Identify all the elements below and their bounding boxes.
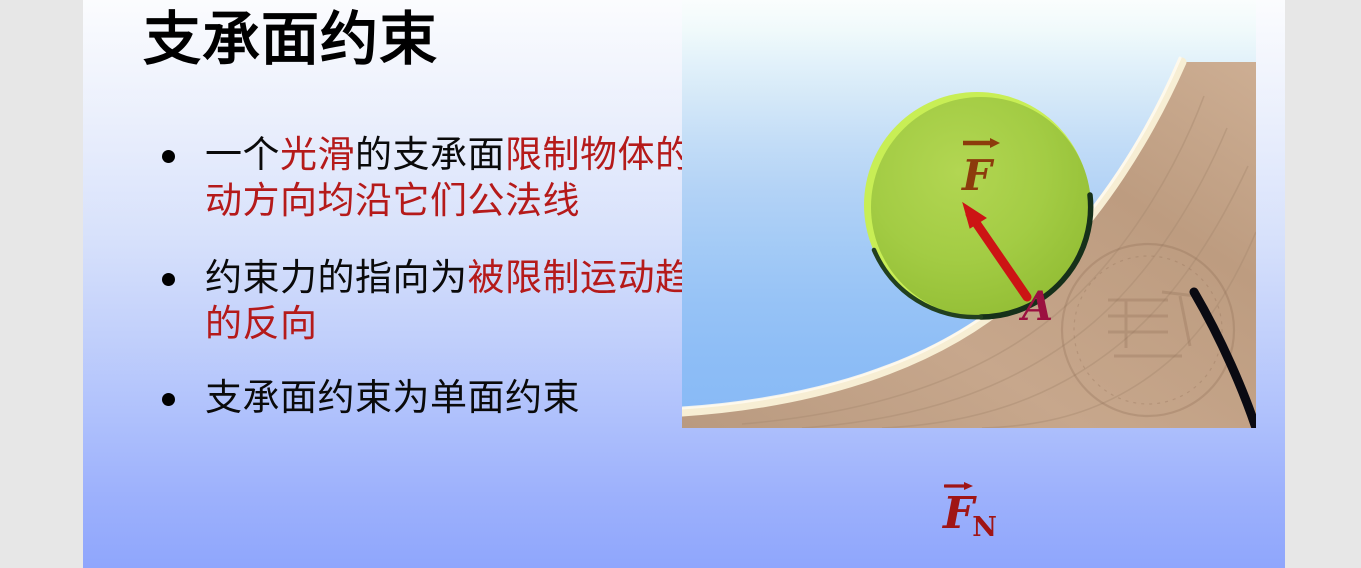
illustration-image: F A: [682, 0, 1256, 428]
bullet-list: 一个光滑的支承面限制物体的运动方向均沿它们公法线 约束力的指向为被限制运动趋势的…: [143, 132, 733, 447]
page-title: 支承面约束: [143, 6, 438, 73]
contact-point-label-A: A: [1018, 283, 1053, 330]
text-segment: 约束力的指向为: [205, 256, 468, 299]
list-item-text: 一个光滑的支承面限制物体的运动方向均沿它们公法线: [205, 133, 730, 222]
list-item-text: 支承面约束为单面约束: [205, 376, 580, 419]
svg-text:A: A: [1018, 283, 1053, 330]
list-item: 一个光滑的支承面限制物体的运动方向均沿它们公法线: [143, 132, 733, 225]
text-segment: 一个: [205, 133, 280, 176]
normal-force-label: F N: [943, 492, 997, 541]
green-ball: [864, 92, 1091, 318]
fn-symbol: F: [943, 488, 974, 539]
fn-subscript: N: [972, 512, 997, 543]
presentation-slide: 支承面约束 一个光滑的支承面限制物体的运动方向均沿它们公法线 约束力的指向为被限…: [83, 0, 1285, 568]
text-segment: 支承面约束为单面约束: [205, 376, 580, 419]
illustration-svg: F A: [682, 0, 1256, 428]
vector-symbol-F: F: [943, 492, 974, 536]
text-segment-highlight: 光滑: [280, 133, 355, 176]
bullet-point-icon: [162, 393, 175, 406]
text-segment: 的支承面: [355, 133, 505, 176]
bullet-point-icon: [162, 273, 175, 286]
screenshot-viewport: 支承面约束 一个光滑的支承面限制物体的运动方向均沿它们公法线 约束力的指向为被限…: [0, 0, 1361, 568]
bullet-point-icon: [162, 150, 175, 163]
list-item: 支承面约束为单面约束: [143, 375, 733, 421]
list-item: 约束力的指向为被限制运动趋势的反向: [143, 255, 733, 348]
svg-text:F: F: [961, 151, 995, 200]
list-item-text: 约束力的指向为被限制运动趋势的反向: [205, 256, 730, 345]
